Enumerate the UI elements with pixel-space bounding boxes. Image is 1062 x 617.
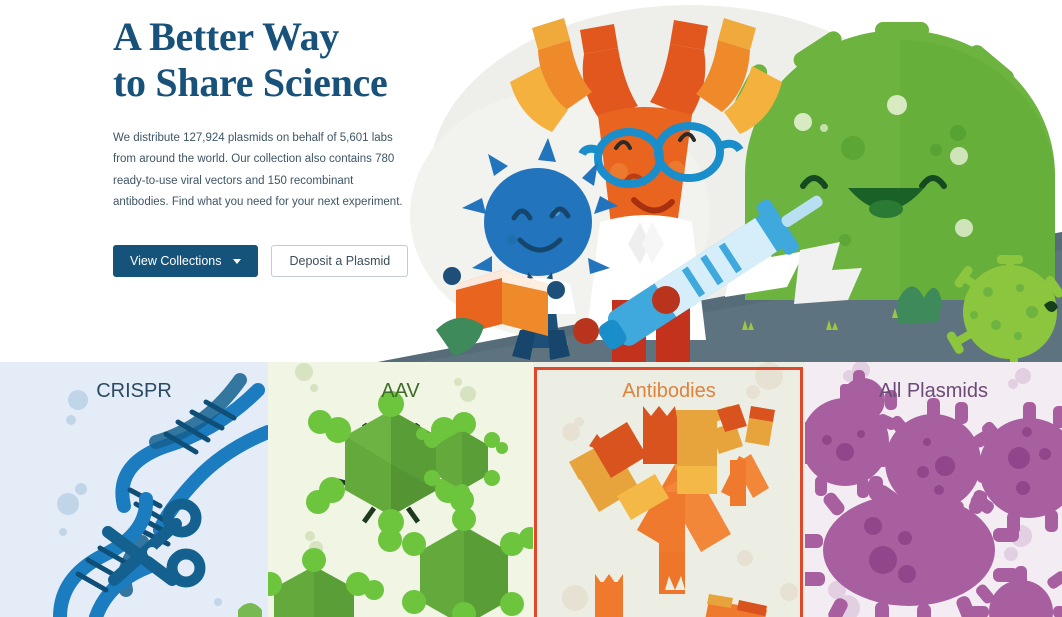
category-tile-aav[interactable]: AAV [268,362,533,617]
view-collections-label: View Collections [130,254,221,268]
dna-helix-scissors-icon [0,362,268,617]
view-collections-button[interactable]: View Collections [113,245,258,277]
category-tile-antibodies[interactable]: Antibodies [533,362,805,617]
category-tile-all-plasmids[interactable]: All Plasmids [805,362,1062,617]
deposit-plasmid-button[interactable]: Deposit a Plasmid [271,245,408,277]
addgene-homepage: A Better Way to Share Science We distrib… [0,0,1062,617]
capsid-bottom-left [268,548,384,617]
capsid-bottom-right [402,507,533,617]
antibody-large [569,406,731,594]
hero-button-row: View Collections Deposit a Plasmid [113,245,423,277]
hero-section: A Better Way to Share Science We distrib… [0,0,1062,362]
hero-description: We distribute 127,924 plasmids on behalf… [113,128,405,213]
plasmid-bacteria-icon [805,362,1062,617]
category-tiles: CRISPR [0,362,1062,617]
chevron-down-icon [233,259,241,264]
category-tile-crispr[interactable]: CRISPR [0,362,268,617]
viral-capsid-icon [268,362,533,617]
page-title: A Better Way to Share Science [113,14,423,106]
antibody-icon [533,362,805,617]
hero-copy: A Better Way to Share Science We distrib… [113,14,423,277]
